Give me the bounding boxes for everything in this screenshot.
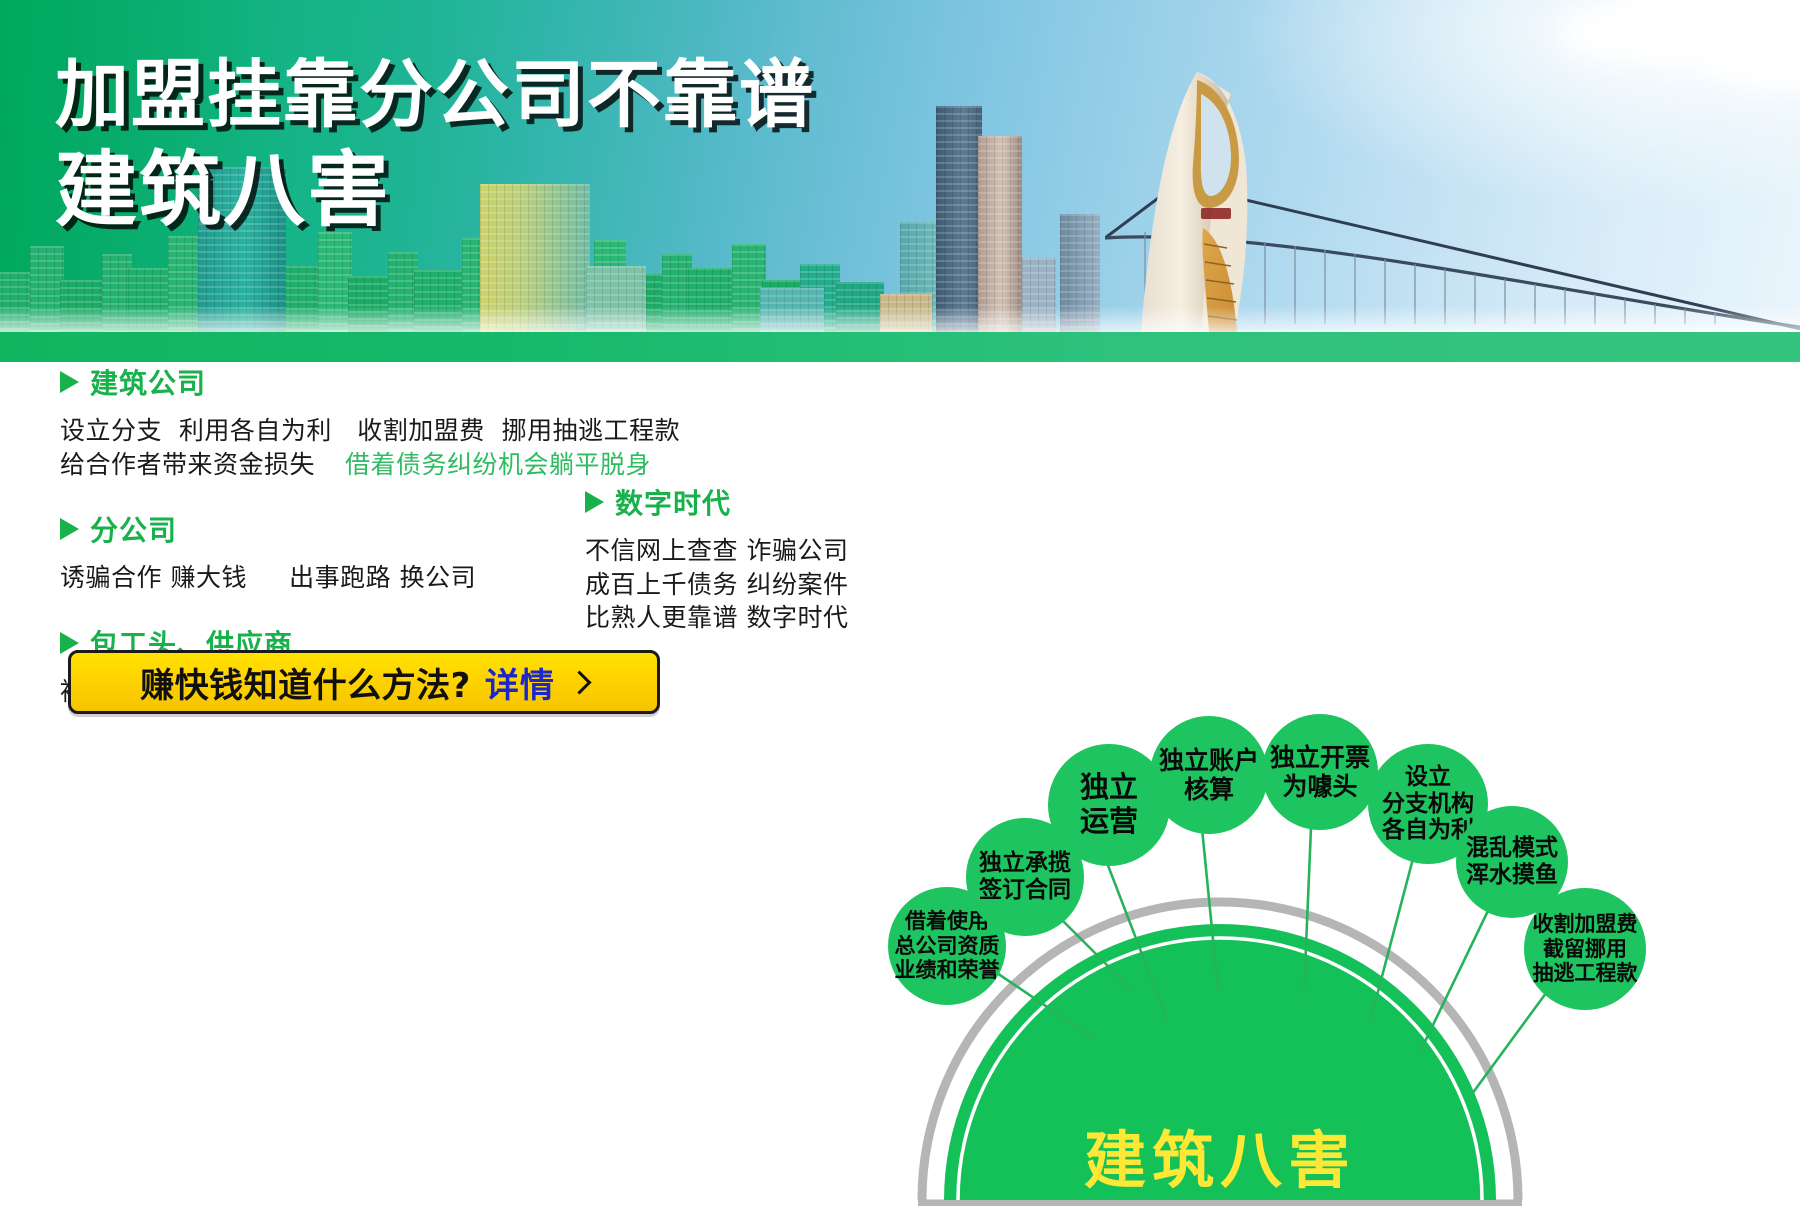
bubble-text: 独立账户核算 xyxy=(1159,746,1259,804)
section-digital-era: 数字时代 不信网上查查 诈骗公司 成百上千债务 纠纷案件 比熟人更靠谱 数字时代 xyxy=(585,482,845,635)
main-content: 建筑公司 设立分支 利用各自为利 收割加盟费 挪用抽逃工程款 给合作者带来资金损… xyxy=(0,362,1800,844)
bubble-independent-invoicing[interactable]: 独立开票为噱头 xyxy=(1262,714,1378,830)
page-title: 加盟挂靠分公司不靠谱 建筑八害 xyxy=(55,56,815,235)
section-title: 数字时代 xyxy=(615,482,731,522)
section-title: 建筑公司 xyxy=(90,362,206,402)
chevron-right-icon xyxy=(567,670,591,694)
section-title: 分公司 xyxy=(90,509,177,549)
section-line: 比熟人更靠谱 数字时代 xyxy=(585,601,845,635)
bridge-illustration xyxy=(1105,32,1800,332)
triangle-bullet-icon xyxy=(585,491,604,513)
dome-center-label: 建筑八害 xyxy=(1084,1124,1356,1197)
section-body: 设立分支 利用各自为利 收割加盟费 挪用抽逃工程款 给合作者带来资金损失 借着债… xyxy=(60,414,820,481)
section-header: 数字时代 xyxy=(585,482,845,522)
section-line: 成百上千债务 纠纷案件 xyxy=(585,568,845,602)
bridge-sign xyxy=(1201,208,1231,219)
bubble-independent-account[interactable]: 独立账户核算 xyxy=(1150,716,1268,834)
section-line-accent: 借着债务纠纷机会躺平脱身 xyxy=(345,448,651,482)
bubble-text: 收割加盟费截留挪用抽逃工程款 xyxy=(1533,912,1638,985)
hero-banner: 加盟挂靠分公司不靠谱 建筑八害 xyxy=(0,0,1800,362)
cta-button[interactable]: 赚快钱知道什么方法? 详情 xyxy=(68,650,660,714)
section-header: 建筑公司 xyxy=(60,362,820,402)
bubble-text: 独立承揽签订合同 xyxy=(979,850,1071,903)
section-line: 不信网上查查 诈骗公司 xyxy=(585,534,845,568)
cta-details-link[interactable]: 详情 xyxy=(485,658,555,707)
bubble-text: 独立开票为噱头 xyxy=(1270,743,1370,801)
bubble-harvest-franchise-fee[interactable]: 收割加盟费截留挪用抽逃工程款 xyxy=(1524,888,1646,1010)
section-line: 给合作者带来资金损失 xyxy=(60,448,315,482)
bubble-text: 独立运营 xyxy=(1080,771,1138,838)
triangle-bullet-icon xyxy=(60,371,79,393)
section-construction-company: 建筑公司 设立分支 利用各自为利 收割加盟费 挪用抽逃工程款 给合作者带来资金损… xyxy=(60,362,820,481)
hero-green-strip xyxy=(0,332,1800,362)
bubble-text: 混乱模式浑水摸鱼 xyxy=(1466,835,1558,888)
bubble-text: 设立分支机构各自为利 xyxy=(1382,764,1474,844)
section-body: 不信网上查查 诈骗公司 成百上千债务 纠纷案件 比熟人更靠谱 数字时代 xyxy=(585,534,845,635)
hero-title-line1: 加盟挂靠分公司不靠谱 xyxy=(55,56,815,134)
bubble-text: 借着使用总公司资质业绩和荣誉 xyxy=(895,909,1000,982)
cta-label: 赚快钱知道什么方法? xyxy=(140,658,471,707)
bubble-diagram: 建筑八害 借着使用总公司资质业绩和荣誉 独立承揽签订合同 独立运营 独立账户核算… xyxy=(900,722,1800,1206)
triangle-bullet-icon xyxy=(60,518,79,540)
hero-title-line2: 建筑八害 xyxy=(55,148,815,235)
section-line: 设立分支 利用各自为利 收割加盟费 挪用抽逃工程款 xyxy=(60,414,820,448)
